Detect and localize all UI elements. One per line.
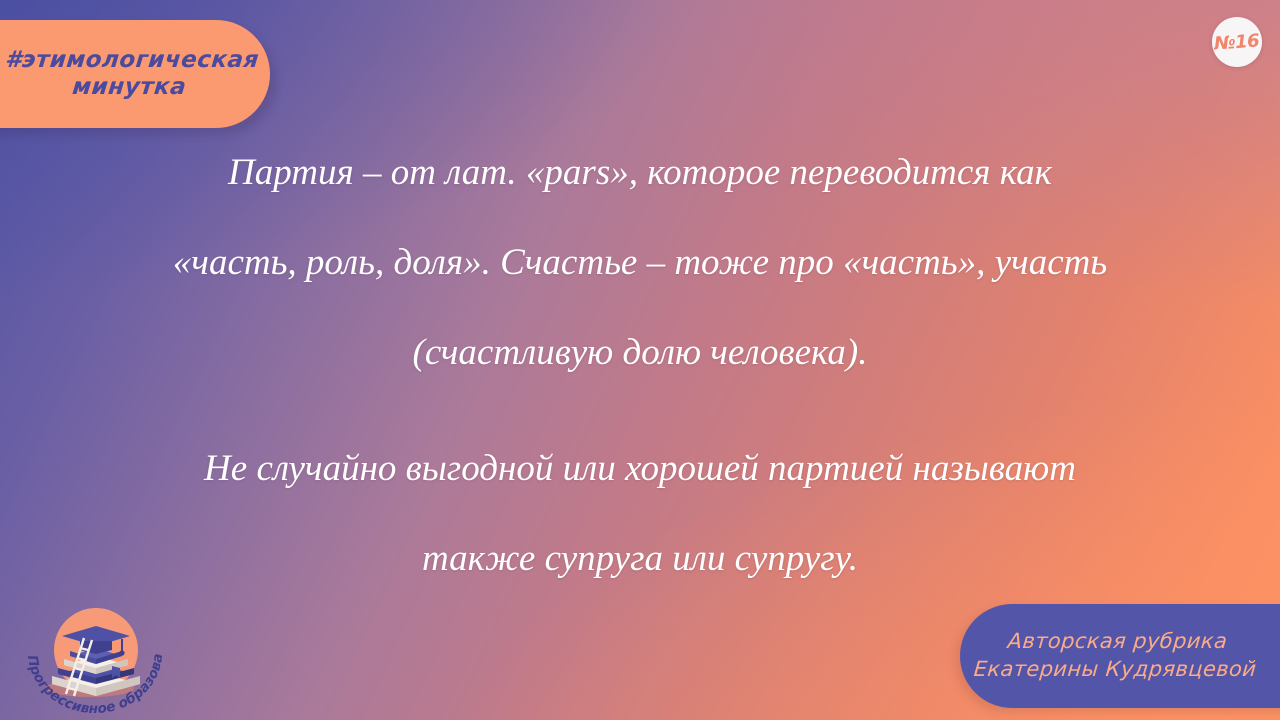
author-badge-line-1: Авторская рубрика bbox=[975, 628, 1260, 656]
issue-number-label: №16 bbox=[1214, 30, 1261, 54]
body-text-line-2: «часть, роль, доля». Счастье – тоже про … bbox=[44, 218, 1236, 308]
organization-logo: Прогрессивное образование bbox=[12, 596, 180, 720]
hashtag-badge: #этимологическая минутка bbox=[0, 20, 270, 128]
slide-canvas: #этимологическая минутка №16 Партия – от… bbox=[0, 0, 1280, 720]
hashtag-badge-text: #этимологическая минутка bbox=[0, 47, 261, 101]
body-text-line-5: также супруга или супругу. bbox=[44, 514, 1236, 604]
body-text-line-4: Не случайно выгодной или хорошей партией… bbox=[44, 424, 1236, 514]
author-badge-line-2: Екатерины Кудрявцевой bbox=[972, 656, 1257, 684]
hashtag-badge-line-2: минутка bbox=[1, 74, 257, 101]
body-text: Партия – от лат. «pars», которое перевод… bbox=[0, 128, 1280, 604]
hashtag-badge-line-1: #этимологическая bbox=[4, 47, 260, 74]
author-badge-text: Авторская рубрика Екатерины Кудрявцевой bbox=[972, 628, 1280, 683]
issue-number-badge: №16 bbox=[1212, 17, 1262, 67]
body-text-line-1: Партия – от лат. «pars», которое перевод… bbox=[44, 128, 1236, 218]
author-badge: Авторская рубрика Екатерины Кудрявцевой bbox=[960, 604, 1280, 708]
body-text-line-3: (счастливую долю человека). bbox=[44, 308, 1236, 398]
logo-illustration: Прогрессивное образование bbox=[12, 596, 180, 720]
